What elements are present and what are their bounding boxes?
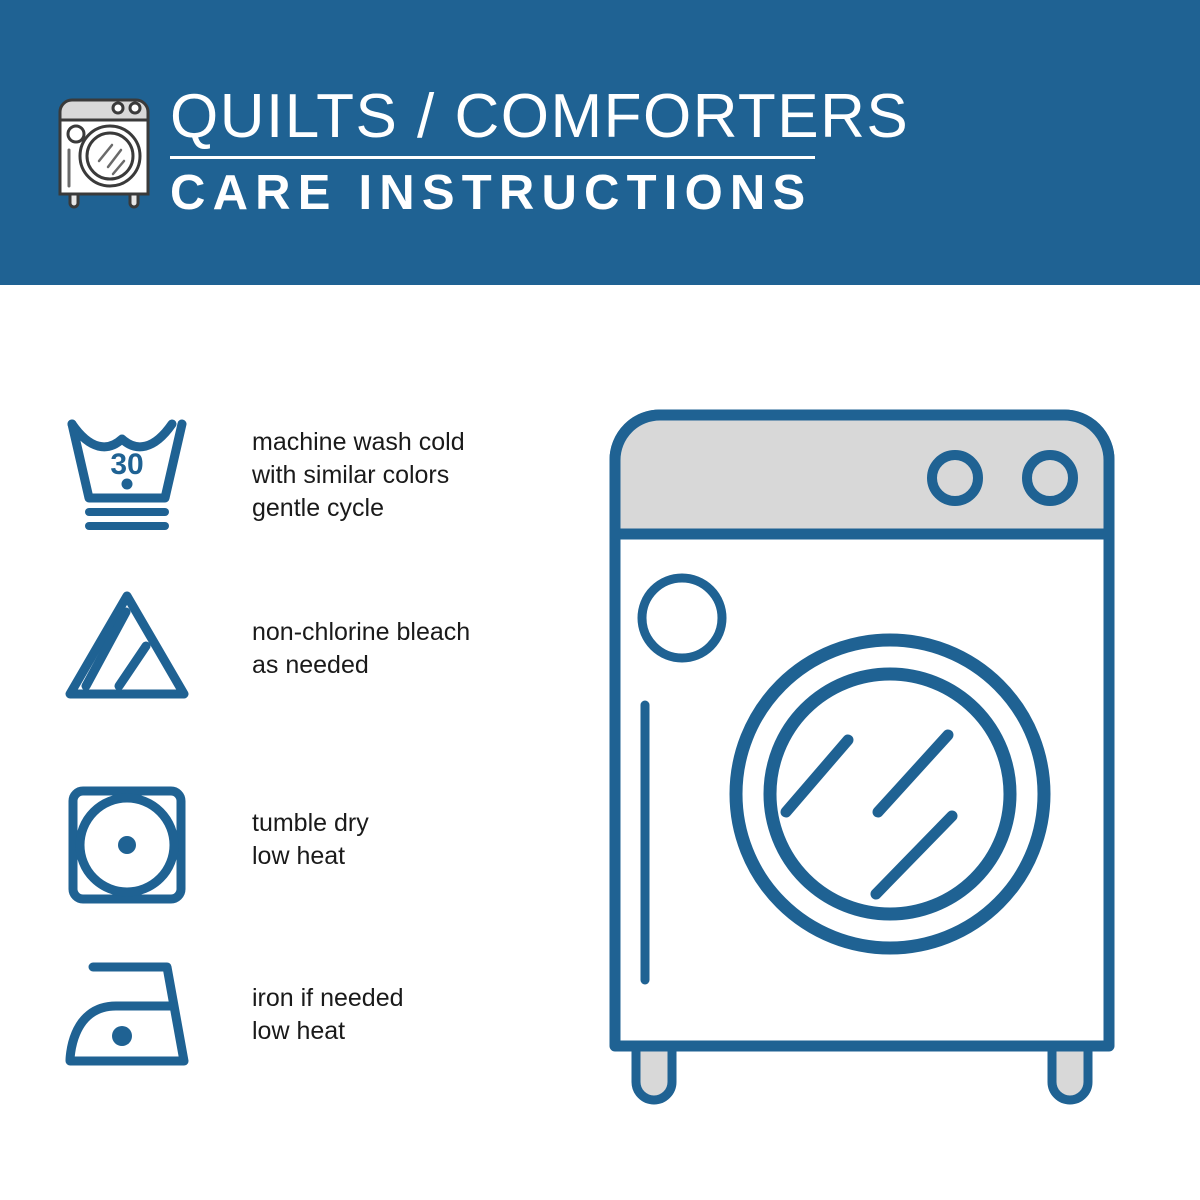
care-instructions-page: QUILTS / COMFORTERS CARE INSTRUCTIONS 30… [0,0,1200,1200]
wash-temperature-label: 30 [110,448,143,481]
care-row-tumble-dry: tumble dry low heat [0,785,520,935]
header-title-group: QUILTS / COMFORTERS CARE INSTRUCTIONS [170,84,830,223]
header-banner: QUILTS / COMFORTERS CARE INSTRUCTIONS [0,0,1200,285]
care-line: low heat [252,840,369,873]
page-subtitle: CARE INSTRUCTIONS [170,163,830,223]
care-line: low heat [252,1015,404,1048]
control-panel [615,415,1109,534]
care-line: tumble dry [252,807,369,840]
title-divider [170,156,815,159]
care-line: machine wash cold [252,426,465,459]
care-text-bleach: non-chlorine bleach as needed [252,616,470,682]
care-line: as needed [252,649,470,682]
care-row-wash: 30 machine wash cold with similar colors… [0,416,520,566]
care-text-tumble-dry: tumble dry low heat [252,807,369,873]
washing-machine-illustration [600,400,1160,1120]
care-row-iron: iron if needed low heat [0,960,520,1110]
care-row-bleach: non-chlorine bleach as needed [0,590,520,740]
care-line: iron if needed [252,982,404,1015]
care-line: gentle cycle [252,492,465,525]
washing-machine-logo-icon [52,82,156,210]
tumble-dry-icon [62,785,198,905]
page-title: QUILTS / COMFORTERS [170,84,830,150]
iron-icon [62,960,198,1080]
care-line: with similar colors [252,459,465,492]
care-text-iron: iron if needed low heat [252,982,404,1048]
care-text-wash: machine wash cold with similar colors ge… [252,426,465,525]
bleach-triangle-icon [62,590,198,710]
wash-tub-icon: 30 [62,416,198,536]
care-line: non-chlorine bleach [252,616,470,649]
